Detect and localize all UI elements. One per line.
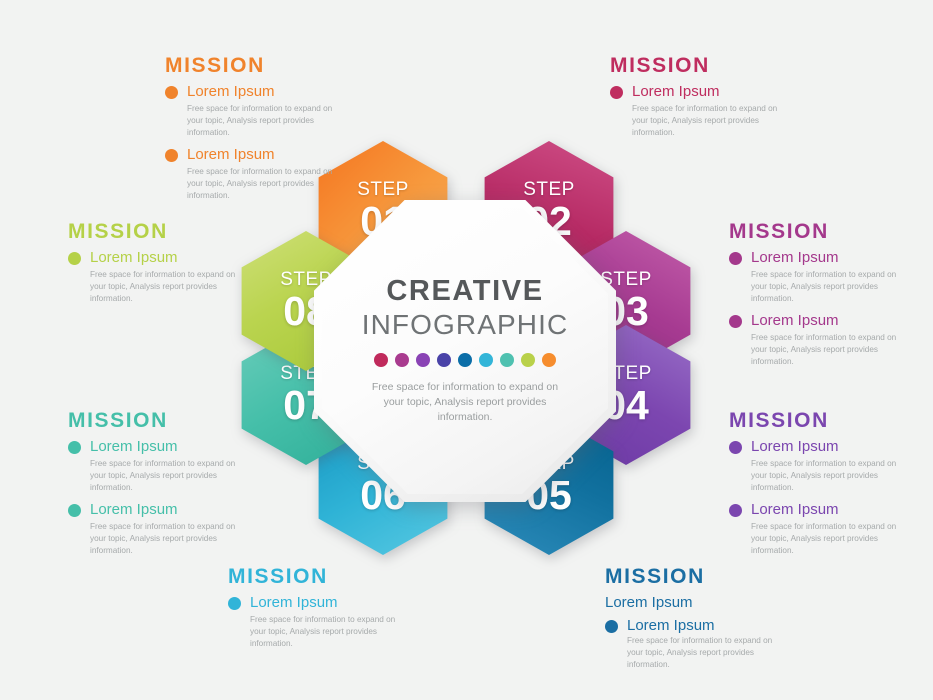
mission-step-03-item-2[interactable]: Lorem Ipsum Free space for information t… [729,312,911,368]
mission-step-04-item-2-title: Lorem Ipsum [751,501,911,518]
mission-step-02-heading: MISSION [610,54,792,78]
bullet-icon [610,86,623,99]
mission-step-07-item-2-title: Lorem Ipsum [90,501,250,518]
mission-step-07-item-1[interactable]: Lorem Ipsum Free space for information t… [68,438,250,494]
mission-step-03-item-1-desc: Free space for information to expand on … [751,269,911,305]
mission-step-01-item-2-desc: Free space for information to expand on … [187,166,347,202]
mission-step-02-item-1-desc: Free space for information to expand on … [632,103,792,139]
mission-step-04-item-1-title: Lorem Ipsum [751,438,911,455]
mission-step-05-item-1[interactable]: Lorem Ipsum Free space for information t… [605,617,787,671]
mission-step-06-item-1-desc: Free space for information to expand on … [250,614,410,650]
mission-step-04-item-2-desc: Free space for information to expand on … [751,521,911,557]
color-dot-4 [437,353,451,367]
mission-step-03-item-1[interactable]: Lorem Ipsum Free space for information t… [729,249,911,305]
mission-step-01-heading: MISSION [165,54,347,78]
bullet-icon [68,504,81,517]
mission-step-07-heading: MISSION [68,409,250,433]
center-description: Free space for information to expand on … [365,380,565,426]
mission-step-05-item-1-desc: Free space for information to expand on … [627,635,787,671]
mission-step-07-item-1-desc: Free space for information to expand on … [90,458,250,494]
mission-step-02: MISSION Lorem Ipsum Free space for infor… [610,54,792,139]
mission-step-08-item-1[interactable]: Lorem Ipsum Free space for information t… [68,249,250,305]
color-dot-5 [458,353,472,367]
mission-step-08: MISSION Lorem Ipsum Free space for infor… [68,220,250,305]
bullet-icon [605,620,618,633]
bullet-icon [165,86,178,99]
mission-step-03: MISSION Lorem Ipsum Free space for infor… [729,220,911,368]
color-dot-8 [521,353,535,367]
bullet-icon [228,597,241,610]
mission-step-01: MISSION Lorem Ipsum Free space for infor… [165,54,347,202]
bullet-icon [68,252,81,265]
bullet-icon [729,504,742,517]
mission-step-04: MISSION Lorem Ipsum Free space for infor… [729,409,911,557]
mission-step-07: MISSION Lorem Ipsum Free space for infor… [68,409,250,557]
mission-step-01-item-2[interactable]: Lorem Ipsum Free space for information t… [165,146,347,202]
center-octagon: CREATIVE INFOGRAPHIC Free space for info… [314,200,616,502]
color-dot-9 [542,353,556,367]
mission-step-01-item-1[interactable]: Lorem Ipsum Free space for information t… [165,83,347,139]
mission-step-04-item-1[interactable]: Lorem Ipsum Free space for information t… [729,438,911,494]
mission-step-06-item-1[interactable]: Lorem Ipsum Free space for information t… [228,594,410,650]
bullet-icon [165,149,178,162]
mission-step-08-item-1-desc: Free space for information to expand on … [90,269,250,305]
mission-step-06-heading: MISSION [228,565,410,589]
bullet-icon [729,441,742,454]
mission-step-02-item-1-title: Lorem Ipsum [632,83,792,100]
mission-step-02-item-1[interactable]: Lorem Ipsum Free space for information t… [610,83,792,139]
mission-step-05-subheading: Lorem Ipsum [605,594,787,611]
mission-step-03-heading: MISSION [729,220,911,244]
mission-step-04-item-1-desc: Free space for information to expand on … [751,458,911,494]
bullet-icon [729,252,742,265]
mission-step-03-item-2-title: Lorem Ipsum [751,312,911,329]
mission-step-04-heading: MISSION [729,409,911,433]
mission-step-06-item-1-title: Lorem Ipsum [250,594,410,611]
bullet-icon [68,441,81,454]
mission-step-01-item-1-title: Lorem Ipsum [187,83,347,100]
mission-step-01-item-1-desc: Free space for information to expand on … [187,103,347,139]
mission-step-07-item-2[interactable]: Lorem Ipsum Free space for information t… [68,501,250,557]
mission-step-05-item-1-title: Lorem Ipsum [627,617,787,634]
infographic-canvas: STEP 01 STEP 02 STEP 03 STEP 04 [0,0,933,700]
color-dot-6 [479,353,493,367]
color-dot-row [374,353,556,367]
mission-step-04-item-2[interactable]: Lorem Ipsum Free space for information t… [729,501,911,557]
mission-step-06: MISSION Lorem Ipsum Free space for infor… [228,565,410,650]
color-dot-3 [416,353,430,367]
mission-step-07-item-1-title: Lorem Ipsum [90,438,250,455]
mission-step-08-heading: MISSION [68,220,250,244]
color-dot-7 [500,353,514,367]
step-petal-02-label: STEP [523,180,575,199]
mission-step-03-item-1-title: Lorem Ipsum [751,249,911,266]
mission-step-07-item-2-desc: Free space for information to expand on … [90,521,250,557]
page-title: CREATIVE [386,276,543,307]
step-petal-01-label: STEP [357,180,409,199]
mission-step-05-heading: MISSION [605,565,787,589]
mission-step-01-item-2-title: Lorem Ipsum [187,146,347,163]
bullet-icon [729,315,742,328]
color-dot-1 [374,353,388,367]
mission-step-05: MISSION Lorem Ipsum Lorem Ipsum Free spa… [605,565,787,671]
page-subtitle: INFOGRAPHIC [362,309,569,340]
mission-step-03-item-2-desc: Free space for information to expand on … [751,332,911,368]
color-dot-2 [395,353,409,367]
mission-step-08-item-1-title: Lorem Ipsum [90,249,250,266]
